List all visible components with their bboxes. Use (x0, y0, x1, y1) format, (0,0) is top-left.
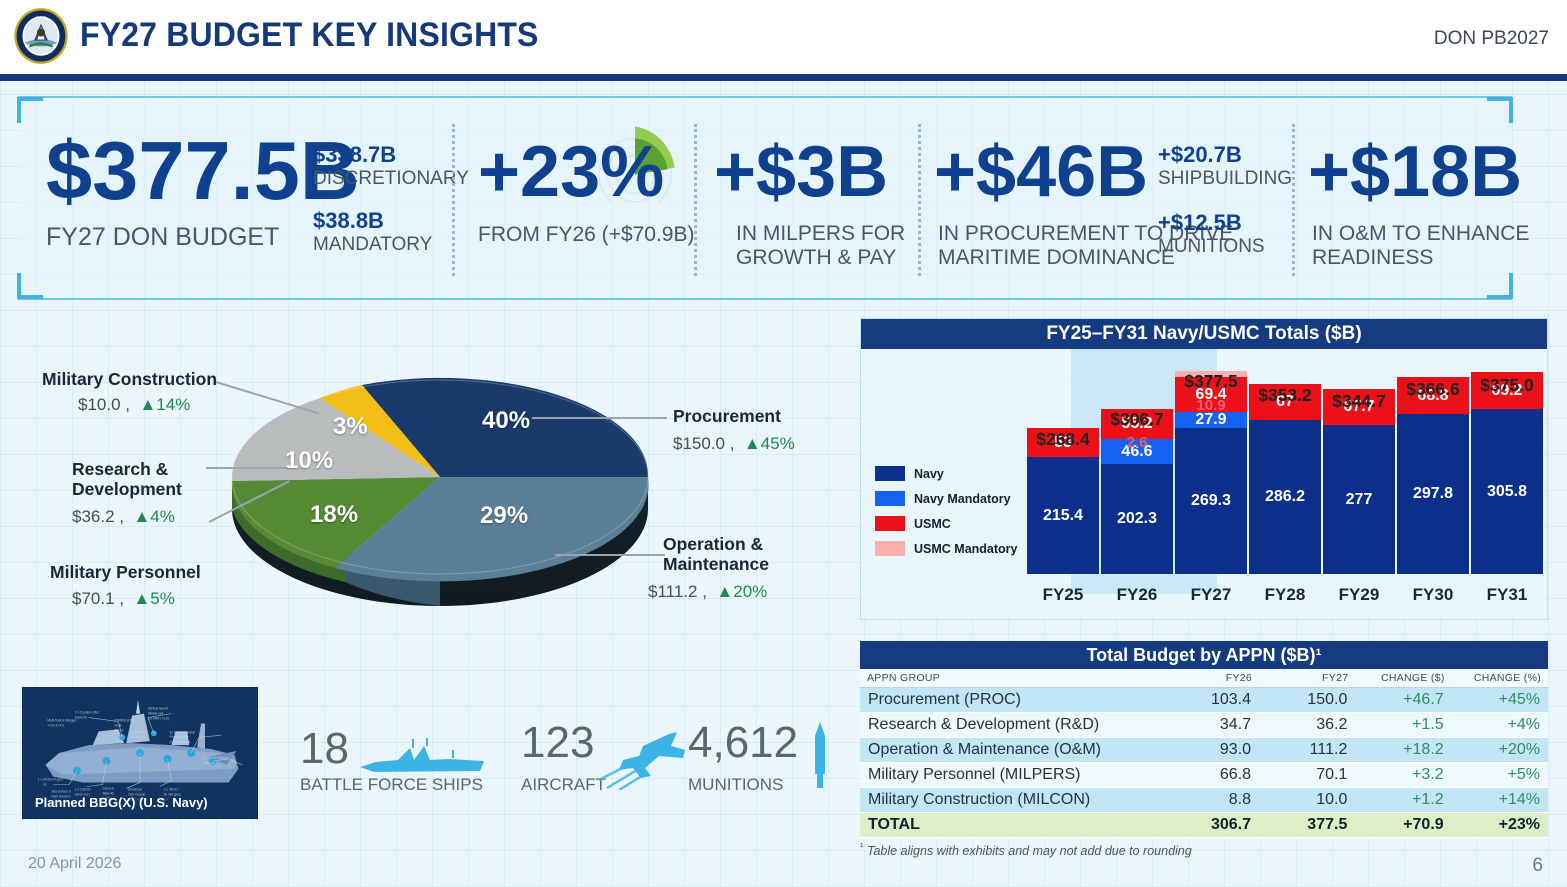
col-change-dollars: CHANGE ($) (1355, 669, 1451, 688)
svg-text:12 x Conventional: 12 x Conventional (170, 730, 195, 734)
cell-total-change-percent: +23% (1452, 813, 1548, 838)
svg-text:x1: x1 (43, 783, 47, 787)
kpi-mandatory-label: MANDATORY (313, 234, 432, 256)
ship-card-caption: Planned BBG(X) (U.S. Navy) (35, 795, 208, 810)
svg-text:STRIKE (EPO): STRIKE (EPO) (114, 718, 135, 722)
cell-change-dollars: +3.2 (1355, 763, 1451, 788)
pie-pct-milcon: 3% (333, 413, 368, 441)
bar-chart-legend: Navy Navy Mandatory USMC USMC Mandatory (875, 461, 1017, 561)
ship-illustration-card: 1 x 30/40 mm gunx1 Sea surface &blast pr… (22, 687, 258, 819)
leader-line-procurement (532, 417, 667, 419)
pie-label-om-name: Operation & (663, 535, 763, 555)
svg-text:Prompt Strike: Prompt Strike (170, 735, 189, 739)
kpi-milpers-value: +$3B (714, 138, 888, 206)
bar-group-fy28: 286.2 67 (1249, 384, 1321, 574)
legend-item-usmc-mandatory: USMC Mandatory (875, 536, 1017, 561)
svg-text:1 x VAULT: 1 x VAULT (164, 787, 179, 791)
svg-text:radar: radar (114, 723, 121, 727)
pie-label-rd-name: Research & (72, 460, 168, 480)
kpi-divider-1 (452, 124, 455, 276)
cell-change-percent: +14% (1452, 788, 1548, 813)
om-amount: $111.2 (648, 582, 697, 601)
navy-seal-icon: ★★★ (12, 7, 70, 65)
legend-item-navy: Navy (875, 461, 1017, 486)
legend-label-navy: Navy (914, 467, 944, 481)
svg-text:(CPS) missiles: (CPS) missiles (170, 740, 191, 744)
pie-label-rd-name-2: Development (72, 480, 182, 500)
leader-line-rd (206, 467, 288, 469)
pie-label-om-value: $111.2 , ▲20% (648, 582, 767, 602)
legend-swatch-navy (875, 466, 905, 481)
col-appn-group: APPN GROUP (860, 669, 1163, 688)
cell-appn: Procurement (PROC) (860, 688, 1163, 713)
kpi-om-caption-1: IN O&M TO ENHANCE (1312, 222, 1529, 246)
rd-change: ▲4% (133, 507, 174, 526)
kpi-divider-4 (1292, 124, 1295, 276)
kpi-divider-3 (918, 124, 921, 276)
kpi-procurement-caption-2: MARITIME DOMINANCE (938, 246, 1175, 270)
cell-fy26: 8.8 (1163, 788, 1259, 813)
col-fy26: FY26 (1163, 669, 1259, 688)
cell-appn: Operation & Maintenance (O&M) (860, 738, 1163, 763)
cell-fy27: 111.2 (1259, 738, 1355, 763)
navy-usmc-totals-chart: FY25–FY31 Navy/USMC Totals ($B) Navy Nav… (860, 318, 1548, 620)
milpers-change: ▲5% (133, 589, 174, 608)
corner-bracket-br (1487, 273, 1513, 299)
legend-item-navy-mandatory: Navy Mandatory (875, 486, 1017, 511)
legend-swatch-navy-mandatory (875, 491, 905, 506)
bar-xlabel-fy26: FY26 (1101, 585, 1173, 605)
stat-aircraft-label: AIRCRAFT (521, 775, 606, 795)
table-row: Military Personnel (MILPERS) 66.8 70.1 +… (860, 763, 1548, 788)
header-divider (0, 74, 1567, 81)
kpi-munitions-label: MUNITIONS (1158, 236, 1265, 258)
milcon-change: ▲14% (139, 395, 190, 414)
table-row: Operation & Maintenance (O&M) 93.0 111.2… (860, 738, 1548, 763)
pie-label-milcon-name: Military Construction (42, 370, 217, 390)
bar-seg-fy31-navy: 305.8 (1471, 409, 1543, 574)
pie-label-milpers-name: Military Personnel (50, 563, 201, 583)
cell-change-percent: +5% (1452, 763, 1548, 788)
svg-text:2 x Counter-UAS: 2 x Counter-UAS (75, 711, 99, 715)
col-change-percent: CHANGE (%) (1452, 669, 1548, 688)
cell-fy27: 150.0 (1259, 688, 1355, 713)
corner-bracket-tr (1487, 97, 1513, 123)
svg-text:★★★: ★★★ (36, 15, 47, 20)
proc-change: ▲45% (744, 434, 795, 453)
pie-label-procurement-name: Procurement (673, 407, 781, 427)
milpers-amount: $70.1 (72, 589, 115, 608)
page-number: 6 (1532, 855, 1543, 877)
stat-munitions-number: 4,612 (688, 718, 798, 768)
svg-text:Sea surface &: Sea surface & (51, 789, 72, 793)
pie-label-rd-value: $36.2 , ▲4% (72, 507, 175, 527)
bar-group-fy30: 297.8 68.8 (1397, 377, 1469, 574)
pie-3d-graphic (225, 357, 655, 607)
legend-label-usmc: USMC (914, 517, 951, 531)
legend-item-usmc: USMC (875, 511, 1017, 536)
pie-label-om-name-2: Maintenance (663, 555, 769, 575)
kpi-mandatory-value: $38.8B (313, 208, 384, 234)
page-title: FY27 BUDGET KEY INSIGHTS (80, 16, 539, 55)
svg-text:1 x 20 kW Railgun: 1 x 20 kW Railgun (203, 756, 229, 760)
cell-total-change-dollars: +70.9 (1355, 813, 1451, 838)
cell-fy27: 10.0 (1259, 788, 1355, 813)
cell-change-percent: +20% (1452, 738, 1548, 763)
footnote-text: Table aligns with exhibits and may not a… (867, 844, 1192, 858)
kpi-discretionary-value: $338.7B (313, 142, 396, 168)
bar-xlabel-fy30: FY30 (1397, 585, 1469, 605)
svg-text:Multi-front & Ranges: Multi-front & Ranges (47, 718, 76, 722)
bar-xlabel-fy31: FY31 (1471, 585, 1543, 605)
cell-fy26: 93.0 (1163, 738, 1259, 763)
budget-by-appn-table: Total Budget by APPN ($B)¹ APPN GROUP FY… (860, 641, 1548, 855)
appropriation-pie-chart: 3% 10% 18% 40% 29% Military Construction… (10, 312, 850, 652)
bar-xlabel-fy27: FY27 (1175, 585, 1247, 605)
kpi-growth-caption: FROM FY26 (+$70.9B) (478, 223, 695, 247)
cell-total-fy26: 306.7 (1163, 813, 1259, 838)
cell-fy26: 103.4 (1163, 688, 1259, 713)
pie-pct-rd: 10% (285, 447, 333, 475)
bar-xlabel-fy28: FY28 (1249, 585, 1321, 605)
svg-text:+CIS & PGL: +CIS & PGL (47, 723, 64, 727)
document-label: DON PB2027 (1434, 28, 1549, 50)
kpi-budget-caption: FY27 DON BUDGET (46, 223, 279, 252)
bar-group-fy29: 277 67.7 (1323, 389, 1395, 574)
svg-text:missile cell: missile cell (148, 712, 163, 716)
kpi-procurement-value: +$46B (934, 138, 1148, 206)
key-insights-banner: $377.5B FY27 DON BUDGET $338.7B DISCRETI… (18, 96, 1512, 300)
cell-change-percent: +45% (1452, 688, 1548, 713)
pie-label-procurement-value: $150.0 , ▲45% (673, 434, 795, 454)
legend-label-navy-mandatory: Navy Mandatory (914, 492, 1011, 506)
cell-change-percent: +4% (1452, 713, 1548, 738)
pie-pct-procurement: 40% (482, 407, 530, 435)
slide-canvas: ★★★ FY27 BUDGET KEY INSIGHTS DON PB2027 … (0, 0, 1567, 887)
stat-ships-label: BATTLE FORCE SHIPS (300, 775, 483, 795)
bar-seg-fy26-usmc-mandatory-label: 2.6 (1101, 434, 1173, 451)
kpi-divider-2 (694, 124, 697, 276)
bar-total-fy26: $306.7 (1085, 409, 1189, 430)
bar-total-fy31: $375.0 (1455, 375, 1559, 396)
proc-amount: $150.0 (673, 434, 725, 453)
cell-change-dollars: +1.2 (1355, 788, 1451, 813)
table-header-row: APPN GROUP FY26 FY27 CHANGE ($) CHANGE (… (860, 669, 1548, 688)
kpi-munitions-value: +$12.5B (1158, 210, 1242, 236)
cell-appn: Military Construction (MILCON) (860, 788, 1163, 813)
cell-change-dollars: +18.2 (1355, 738, 1451, 763)
bar-chart-plot: Navy Navy Mandatory USMC USMC Mandatory … (861, 349, 1547, 621)
kpi-milpers-caption-2: GROWTH & PAY (736, 246, 896, 270)
appn-table: APPN GROUP FY26 FY27 CHANGE ($) CHANGE (… (860, 669, 1548, 838)
cell-total-fy27: 377.5 (1259, 813, 1355, 838)
svg-text:Vertical launch: Vertical launch (148, 707, 169, 711)
svg-text:(32 Mk41 VLS): (32 Mk41 VLS) (148, 717, 169, 721)
bar-total-fy25: $268.4 (1011, 429, 1115, 450)
kpi-om-value: +$18B (1308, 138, 1522, 206)
legend-swatch-usmc-mandatory (875, 541, 905, 556)
cell-total-label: TOTAL (860, 813, 1163, 838)
bar-seg-fy27-navy-mandatory: 27.9 (1175, 412, 1247, 428)
legend-label-usmc-mandatory: USMC Mandatory (914, 542, 1017, 556)
kpi-shipbuilding-value: +$20.7B (1158, 142, 1242, 168)
stat-munitions-label: MUNITIONS (688, 775, 783, 795)
svg-text:Close-in: Close-in (103, 786, 115, 790)
kpi-discretionary-label: DISCRETIONARY (313, 168, 469, 190)
svg-text:Advanced: Advanced (128, 787, 142, 791)
footnote-marker: ¹ (860, 842, 863, 853)
svg-text:8-front: 8-front (114, 728, 123, 732)
rd-amount: $36.2 (72, 507, 115, 526)
cell-appn: Military Personnel (MILPERS) (860, 763, 1163, 788)
kpi-milpers-caption-1: IN MILPERS FOR (736, 222, 905, 246)
bar-seg-fy28-navy: 286.2 (1249, 420, 1321, 574)
leader-line-om (555, 554, 665, 556)
svg-text:2 x MK-0: 2 x MK-0 (132, 730, 145, 734)
bar-seg-fy26-navy: 202.3 (1101, 464, 1173, 574)
cell-fy27: 70.1 (1259, 763, 1355, 788)
ship-icon (352, 736, 492, 778)
corner-bracket-bl (17, 273, 43, 299)
bar-xlabel-fy29: FY29 (1323, 585, 1395, 605)
svg-text:Systems: Systems (75, 716, 87, 720)
svg-text:2" 57 gun: 2" 57 gun (132, 735, 146, 739)
om-change: ▲20% (716, 582, 767, 601)
pie-pct-om: 29% (480, 502, 528, 530)
milcon-amount: $10.0 (78, 395, 121, 414)
stat-aircraft-number: 123 (521, 718, 594, 768)
bar-xlabel-fy25: FY25 (1027, 585, 1099, 605)
cell-change-dollars: +1.5 (1355, 713, 1451, 738)
bar-group-fy31: 305.8 69.2 (1471, 372, 1543, 574)
col-fy27: FY27 (1259, 669, 1355, 688)
table-row: Procurement (PROC) 103.4 150.0 +46.7 +45… (860, 688, 1548, 713)
table-row: Research & Development (R&D) 34.7 36.2 +… (860, 713, 1548, 738)
bar-seg-fy27-navy: 269.3 (1175, 428, 1247, 574)
cell-appn: Research & Development (R&D) (860, 713, 1163, 738)
cell-change-dollars: +46.7 (1355, 688, 1451, 713)
legend-swatch-usmc (875, 516, 905, 531)
table-row: Military Construction (MILCON) 8.8 10.0 … (860, 788, 1548, 813)
slide-date: 20 April 2026 (28, 855, 121, 873)
pie-pct-milpers: 18% (310, 501, 358, 529)
table-footnote: ¹ Table aligns with exhibits and may not… (860, 842, 1548, 858)
cell-fy27: 36.2 (1259, 713, 1355, 738)
missile-icon (808, 722, 832, 790)
cell-fy26: 34.7 (1163, 713, 1259, 738)
slide-header: ★★★ FY27 BUDGET KEY INSIGHTS DON PB2027 (0, 0, 1567, 74)
jet-icon (597, 728, 697, 790)
bar-seg-fy29-navy: 277 (1323, 425, 1395, 574)
stat-ships-number: 18 (300, 724, 349, 774)
svg-text:1 x 100mm: 1 x 100mm (75, 787, 91, 791)
pie-label-milpers-value: $70.1 , ▲5% (72, 589, 175, 609)
pie-label-milcon-value: $10.0 , ▲14% (78, 395, 190, 415)
bar-seg-fy30-navy: 297.8 (1397, 414, 1469, 574)
bar-chart-title: FY25–FY31 Navy/USMC Totals ($B) (861, 319, 1547, 349)
kpi-om-caption-2: READINESS (1312, 246, 1433, 270)
svg-text:park unit: park unit (203, 761, 215, 765)
table-title: Total Budget by APPN ($B)¹ (860, 641, 1548, 669)
corner-bracket-tl (17, 97, 43, 123)
cell-fy26: 66.8 (1163, 763, 1259, 788)
kpi-shipbuilding-label: SHIPBUILDING (1158, 168, 1292, 190)
svg-text:1 x 30/40 mm gun: 1 x 30/40 mm gun (38, 778, 63, 782)
table-total-row: TOTAL 306.7 377.5 +70.9 +23% (860, 813, 1548, 838)
kpi-growth-value: +23% (478, 138, 664, 206)
bar-seg-fy25-navy: 215.4 (1027, 457, 1099, 574)
